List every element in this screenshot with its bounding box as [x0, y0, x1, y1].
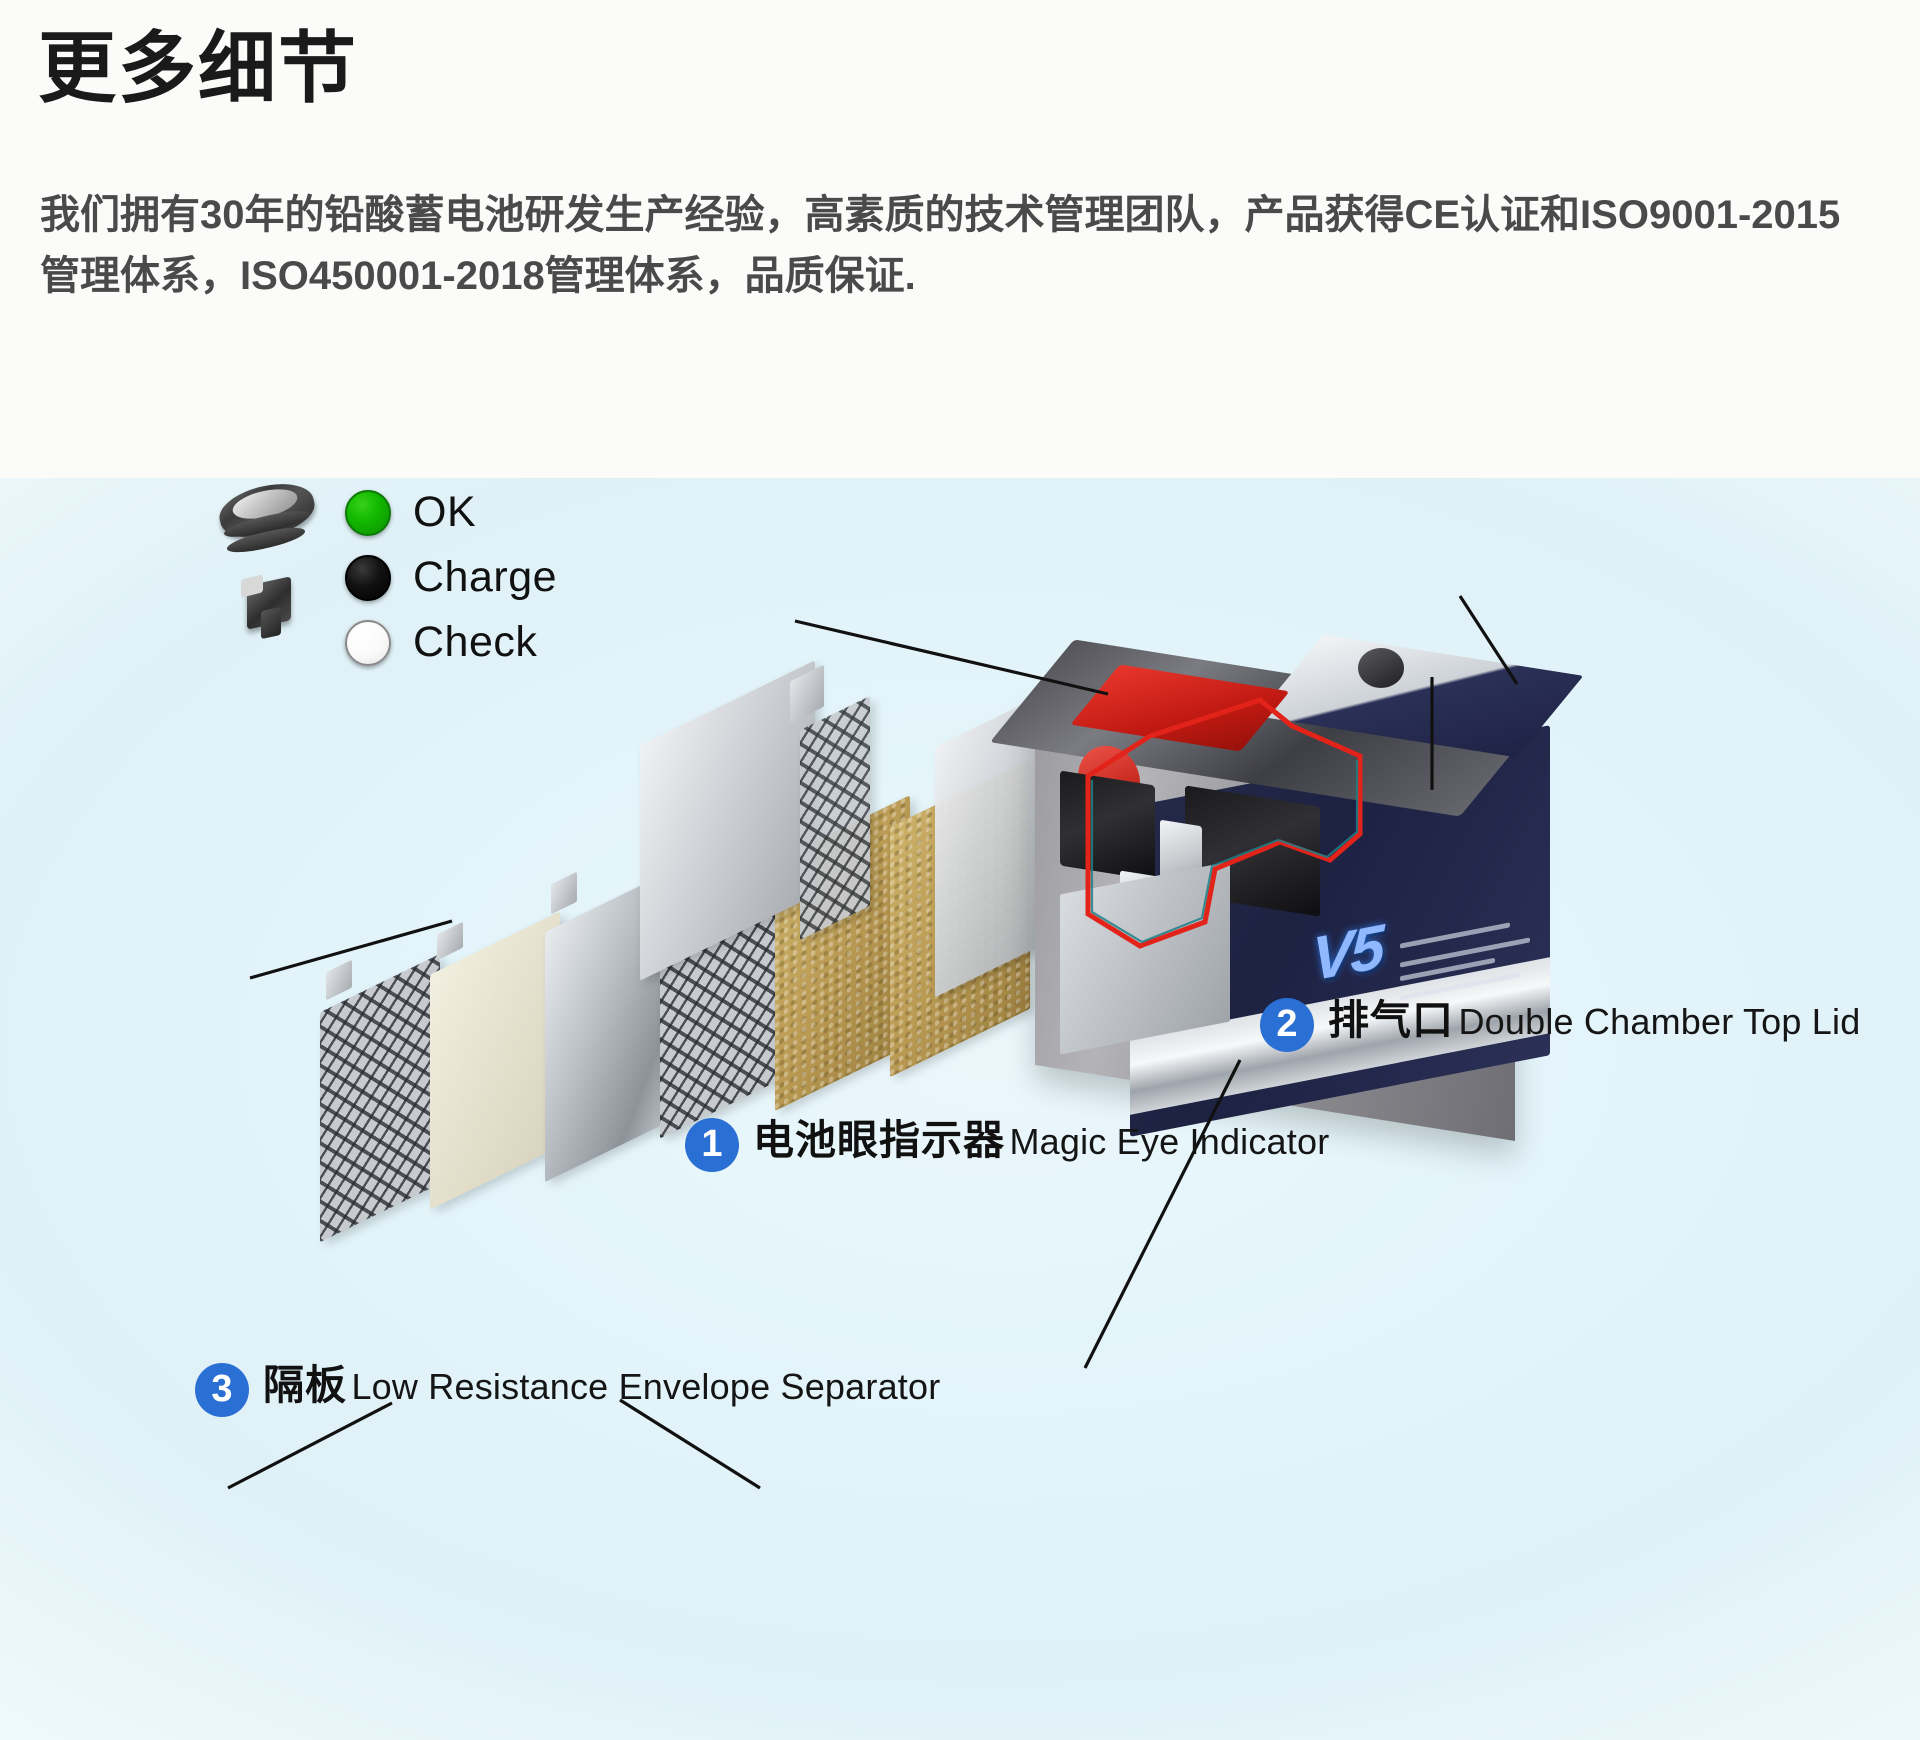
status-dot-check: [345, 620, 391, 666]
callout-badge-1: 1: [685, 1118, 739, 1172]
status-dot-charge: [345, 555, 391, 601]
plate-lug-2: [437, 922, 463, 961]
legend-label-check: Check: [413, 618, 537, 667]
legend-row-ok: OK: [345, 488, 476, 537]
page-title: 更多细节: [38, 28, 358, 110]
plate-negative-paste-1: [430, 911, 560, 1209]
callout-1-cn: 电池眼指示器: [753, 1117, 1005, 1163]
callout-badge-2: 2: [1260, 998, 1314, 1052]
battery-diagram-panel: V5: [0, 478, 1920, 1740]
plate-lug-1: [326, 960, 352, 1001]
callout-3-envelope-separator[interactable]: 3 隔板 Low Resistance Envelope Separator: [195, 1363, 940, 1417]
plate-group-stack: [800, 696, 870, 940]
callout-2-en: Double Chamber Top Lid: [1458, 1001, 1860, 1042]
header-section: 更多细节 我们拥有30年的铅酸蓄电池研发生产经验，高素质的技术管理团队，产品获得…: [0, 0, 1920, 478]
callout-badge-3: 3: [195, 1363, 249, 1417]
callout-1-magic-eye-indicator[interactable]: 1 电池眼指示器 Magic Eye Indicator: [685, 1118, 1329, 1172]
callout-2-double-chamber-top-lid[interactable]: 2 排气口 Double Chamber Top Lid: [1260, 998, 1860, 1052]
legend-row-check: Check: [345, 618, 537, 667]
magic-eye-probe-icon: [235, 573, 313, 641]
magic-eye-legend: OK Charge Check: [215, 478, 635, 668]
callout-3-en: Low Resistance Envelope Separator: [351, 1366, 940, 1407]
legend-label-charge: Charge: [413, 553, 557, 602]
plate-negative-grid-1: [320, 954, 440, 1243]
legend-row-charge: Charge: [345, 553, 557, 602]
legend-label-ok: OK: [413, 488, 476, 537]
callout-1-en: Magic Eye Indicator: [1009, 1121, 1329, 1162]
status-dot-ok: [345, 490, 391, 536]
magic-eye-plug-icon: [215, 480, 320, 560]
callout-2-cn: 排气口: [1328, 997, 1454, 1043]
plate-lug-3: [551, 872, 577, 915]
page-subtitle: 我们拥有30年的铅酸蓄电池研发生产经验，高素质的技术管理团队，产品获得CE认证和…: [40, 185, 1880, 307]
callout-3-cn: 隔板: [263, 1362, 347, 1408]
